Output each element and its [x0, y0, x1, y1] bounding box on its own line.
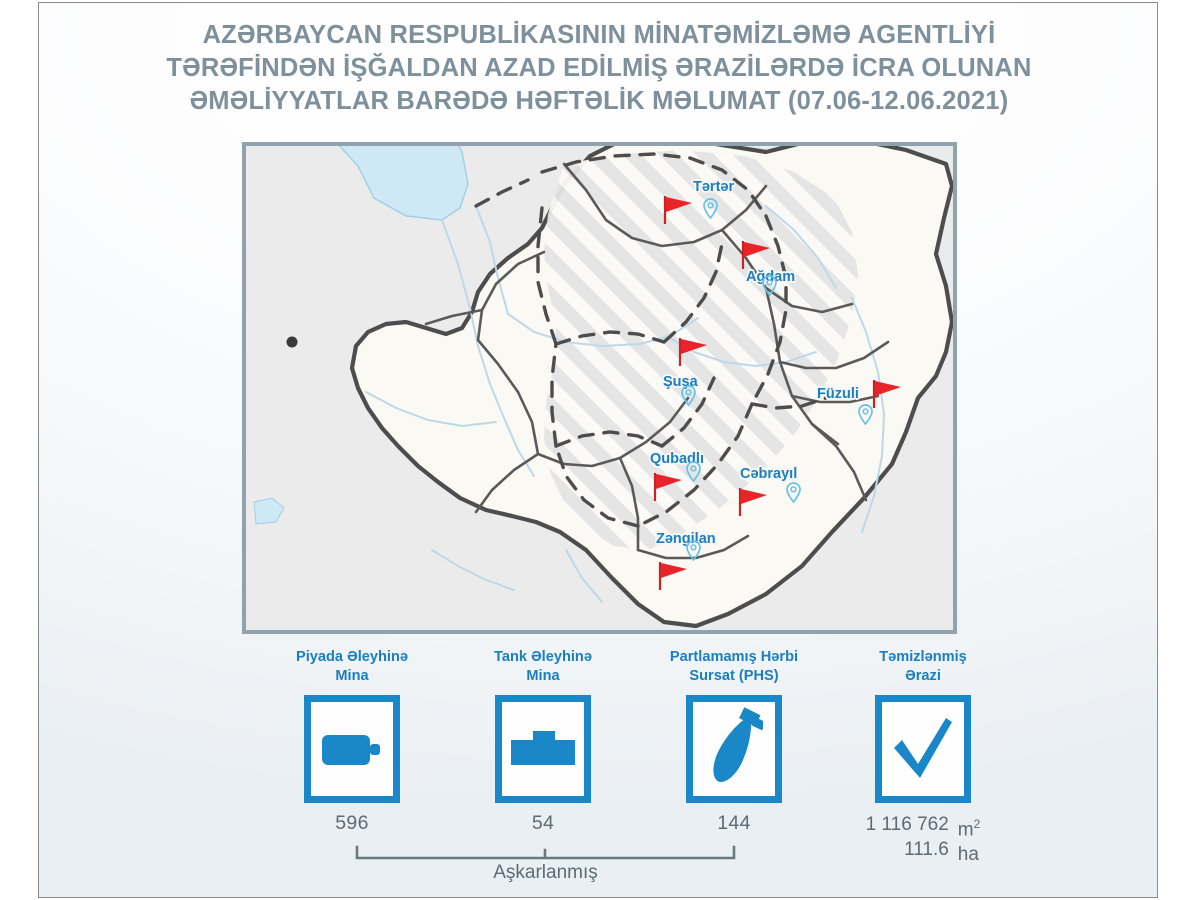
legend-label-unexploded-ordnance: Partlamamış Hərbi Sursat (PHS) — [639, 648, 829, 686]
map-pin-ağdam[interactable] — [762, 275, 777, 301]
city-label-füzuli: Füzuli — [817, 386, 859, 402]
flag-marker-şuşa[interactable] — [676, 336, 710, 373]
page-title: AZƏRBAYCAN RESPUBLİKASININ MİNATƏMİZLƏMƏ… — [39, 19, 1158, 118]
title-line-2: TƏRƏFİNDƏN İŞĞALDAN AZAD EDİLMİŞ ƏRAZİLƏ… — [39, 52, 1158, 85]
map-pin-cəbrayıl[interactable] — [786, 482, 801, 508]
unexploded-ordnance-icon — [705, 707, 763, 791]
icon-box-anti-tank-mine[interactable] — [495, 695, 591, 803]
flag-marker-zəngilan[interactable] — [656, 560, 690, 597]
city-label-tərtər: Tərtər — [693, 179, 734, 195]
legend-item-anti-tank-mine[interactable]: Tank Əleyhinə Mina 54 — [448, 648, 638, 835]
flag-marker-ağdam[interactable] — [739, 239, 773, 276]
legend-panel: Piyada Əleyhinə Mina 596 Tank Əleyhinə M… — [39, 648, 1158, 898]
legend-item-cleared-area[interactable]: Təmizlənmiş Ərazi 1 116 762 111.6 m2 ha — [828, 648, 1018, 867]
map-pin-zəngilan[interactable] — [686, 540, 701, 566]
cleared-area-m2-value: 1 116 762 — [866, 812, 949, 837]
legend-value-anti-tank-mine: 54 — [448, 812, 638, 835]
detected-bracket — [355, 845, 736, 861]
map-panel[interactable]: TərtərAğdamŞuşaFüzuliQubadlıCəbrayılZəng… — [242, 142, 957, 634]
cleared-area-ha-value: 111.6 — [866, 837, 949, 862]
legend-value-anti-personnel-mine: 596 — [257, 812, 447, 835]
flag-marker-qubadlı[interactable] — [651, 471, 685, 508]
icon-box-anti-personnel-mine[interactable] — [304, 695, 400, 803]
map-pin-şuşa[interactable] — [681, 385, 696, 411]
legend-value-unexploded-ordnance: 144 — [639, 812, 829, 835]
flag-marker-cəbrayıl[interactable] — [736, 486, 770, 523]
legend-label-anti-personnel-mine: Piyada Əleyhinə Mina — [257, 648, 447, 686]
anti-personnel-mine-icon — [320, 727, 384, 771]
poster-canvas: AZƏRBAYCAN RESPUBLİKASININ MİNATƏMİZLƏMƏ… — [38, 2, 1158, 898]
legend-item-anti-personnel-mine[interactable]: Piyada Əleyhinə Mina 596 — [257, 648, 447, 835]
icon-box-cleared-area[interactable] — [875, 695, 971, 803]
title-line-3: ƏMƏLİYYATLAR BARƏDƏ HƏFTƏLİK MƏLUMAT (07… — [39, 85, 1158, 118]
legend-item-unexploded-ordnance[interactable]: Partlamamış Hərbi Sursat (PHS) 144 — [639, 648, 829, 835]
flag-marker-füzuli[interactable] — [870, 378, 904, 415]
map-pin-füzuli[interactable] — [858, 404, 873, 430]
cleared-area-values: 1 116 762 111.6 m2 ha — [828, 812, 1018, 867]
anti-tank-mine-icon — [509, 729, 577, 769]
city-label-cəbrayıl: Cəbrayıl — [740, 466, 797, 482]
icon-box-unexploded-ordnance[interactable] — [686, 695, 782, 803]
map-pin-qubadlı[interactable] — [686, 461, 701, 487]
flag-marker-tərtər[interactable] — [661, 194, 695, 231]
detected-bracket-label: Aşkarlanmış — [355, 862, 736, 884]
checkmark-icon — [890, 714, 956, 784]
legend-label-anti-tank-mine: Tank Əleyhinə Mina — [448, 648, 638, 686]
map-pin-tərtər[interactable] — [703, 198, 718, 224]
title-line-1: AZƏRBAYCAN RESPUBLİKASININ MİNATƏMİZLƏMƏ… — [39, 19, 1158, 52]
cleared-area-m2-unit: m2 — [958, 812, 981, 842]
cleared-area-ha-unit: ha — [958, 842, 981, 867]
legend-label-cleared-area: Təmizlənmiş Ərazi — [828, 648, 1018, 686]
